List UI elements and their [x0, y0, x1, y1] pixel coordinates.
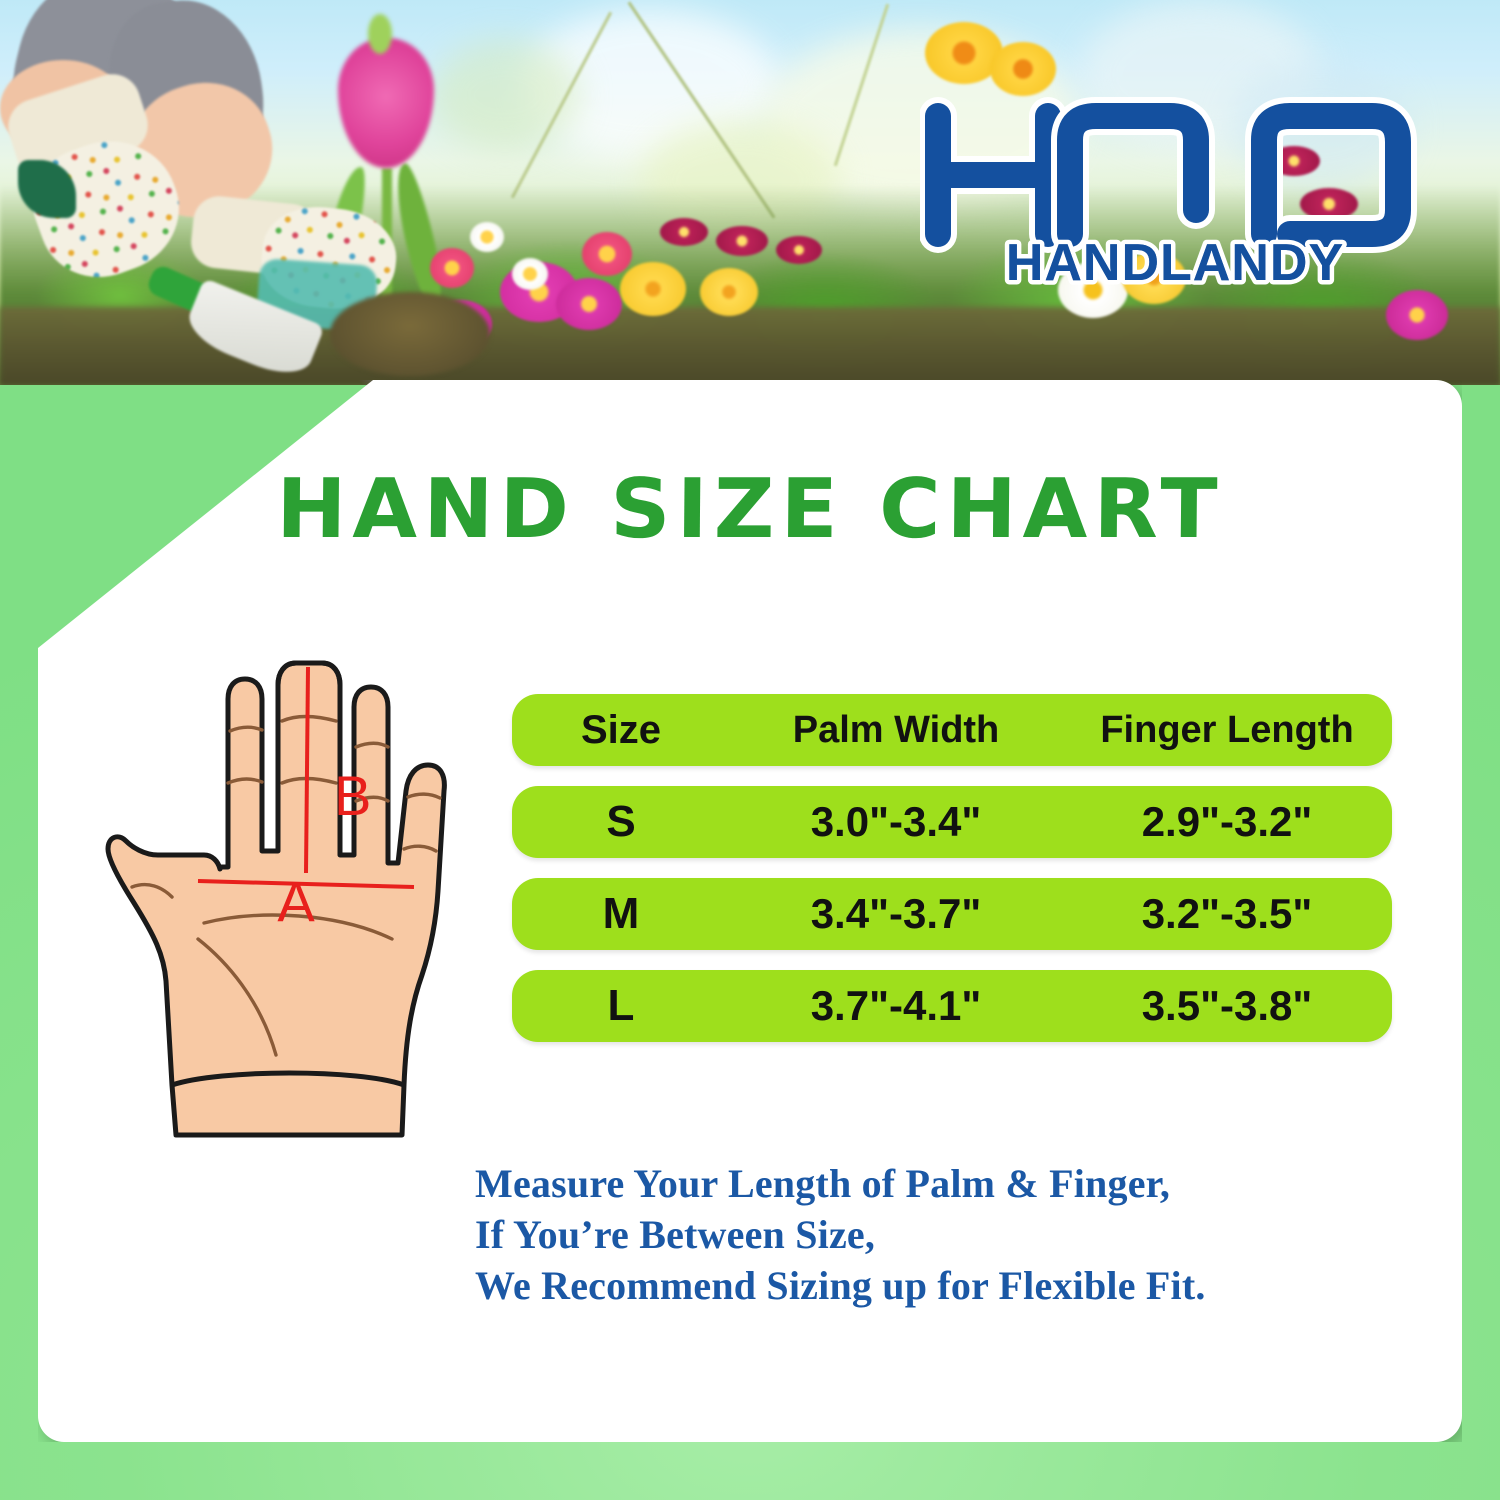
primrose-magenta [1386, 290, 1448, 340]
bokeh-blob [430, 40, 580, 150]
note-line-2: If You’re Between Size, [475, 1209, 1415, 1260]
cell-palm-width: 3.4"-3.7" [730, 890, 1062, 938]
table-row: S 3.0"-3.4" 2.9"-3.2" [512, 786, 1392, 858]
daisy-pink [582, 232, 632, 276]
column-header-palm-width: Palm Width [730, 709, 1062, 752]
daisy-white [512, 258, 548, 290]
cell-palm-width: 3.7"-4.1" [730, 982, 1062, 1030]
svg-text:HANDLANDY: HANDLANDY [1006, 234, 1344, 292]
logo-letter-h [938, 116, 1048, 234]
bellis-crimson [660, 218, 708, 246]
primrose-yellow [620, 262, 686, 316]
cell-finger-length: 3.2"-3.5" [1062, 890, 1392, 938]
size-chart-table: Size Palm Width Finger Length S 3.0"-3.4… [512, 694, 1392, 1062]
label-a: A [277, 870, 315, 933]
cell-size: L [512, 981, 730, 1031]
note-line-3: We Recommend Sizing up for Flexible Fit. [475, 1260, 1415, 1311]
column-header-finger-length: Finger Length [1062, 709, 1392, 752]
cell-palm-width: 3.0"-3.4" [730, 798, 1062, 846]
bellis-crimson [776, 236, 822, 264]
cell-size: M [512, 889, 730, 939]
daffodil-yellow [990, 42, 1056, 96]
handlandy-logo: HANDLANDY HANDLANDY [920, 92, 1430, 292]
cell-finger-length: 3.5"-3.8" [1062, 982, 1392, 1030]
hand-silhouette [108, 663, 444, 1135]
cell-finger-length: 2.9"-3.2" [1062, 798, 1392, 846]
sizing-advice-note: Measure Your Length of Palm & Finger, If… [475, 1158, 1415, 1311]
primrose-magenta [556, 278, 622, 330]
logo-letter-d [1264, 116, 1398, 234]
cell-size: S [512, 797, 730, 847]
column-header-size: Size [512, 708, 730, 753]
note-line-1: Measure Your Length of Palm & Finger, [475, 1158, 1415, 1209]
primrose-yellow [700, 268, 758, 316]
hand-measurement-diagram: A B [100, 655, 480, 1140]
daisy-white [470, 222, 504, 252]
table-header-row: Size Palm Width Finger Length [512, 694, 1392, 766]
root-ball [330, 292, 490, 376]
table-row: L 3.7"-4.1" 3.5"-3.8" [512, 970, 1392, 1042]
table-row: M 3.4"-3.7" 3.2"-3.5" [512, 878, 1392, 950]
bellis-crimson [716, 226, 768, 256]
hyacinth-tip [368, 14, 392, 54]
page-title: HAND SIZE CHART [23, 462, 1476, 557]
label-b: B [334, 764, 371, 827]
logo-letter-n [1070, 116, 1196, 234]
daisy-pink [430, 248, 474, 288]
